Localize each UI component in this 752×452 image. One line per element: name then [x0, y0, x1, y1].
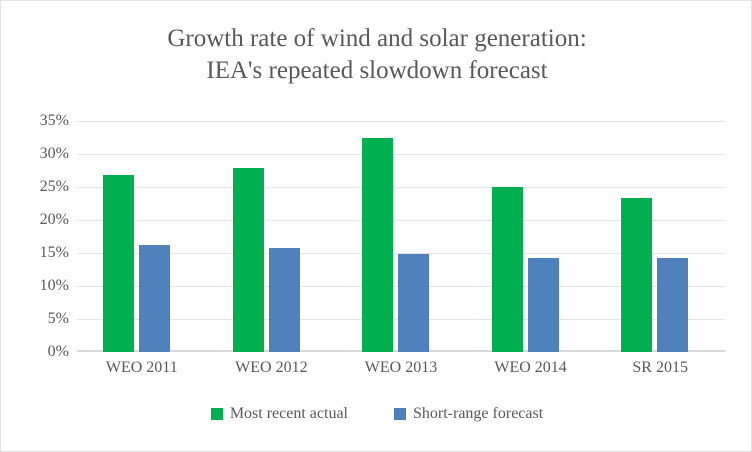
- bar-group: [336, 121, 466, 352]
- plot-area: [77, 121, 725, 352]
- legend-swatch-icon: [394, 408, 406, 420]
- bar-group: [595, 121, 725, 352]
- x-axis-tick-label: WEO 2013: [336, 358, 466, 378]
- x-axis-tick-label: SR 2015: [595, 358, 725, 378]
- y-axis-tick-label: 35%: [11, 113, 69, 129]
- bar-most-recent-actual[interactable]: [621, 198, 652, 352]
- bar-most-recent-actual[interactable]: [362, 138, 393, 352]
- bar-most-recent-actual[interactable]: [233, 168, 264, 352]
- bar-short-range-forecast[interactable]: [528, 258, 559, 352]
- bar-most-recent-actual[interactable]: [492, 187, 523, 352]
- y-axis-tick-label: 10%: [11, 278, 69, 294]
- y-axis-tick-label: 30%: [11, 146, 69, 162]
- chart-legend: Most recent actualShort-range forecast: [1, 405, 752, 423]
- bar-group: [207, 121, 337, 352]
- bar-short-range-forecast[interactable]: [398, 254, 429, 352]
- bar-short-range-forecast[interactable]: [657, 258, 688, 352]
- x-axis-labels: WEO 2011WEO 2012WEO 2013WEO 2014SR 2015: [77, 358, 725, 382]
- y-axis-tick-label: 20%: [11, 212, 69, 228]
- y-axis-tick-label: 5%: [11, 311, 69, 327]
- chart-container: Growth rate of wind and solar generation…: [0, 0, 752, 452]
- legend-swatch-icon: [211, 408, 223, 420]
- bar-short-range-forecast[interactable]: [269, 248, 300, 352]
- legend-label: Most recent actual: [230, 405, 348, 423]
- bar-short-range-forecast[interactable]: [139, 245, 170, 352]
- chart-title: Growth rate of wind and solar generation…: [1, 23, 752, 87]
- legend-label: Short-range forecast: [413, 405, 543, 423]
- bar-group: [77, 121, 207, 352]
- legend-item[interactable]: Most recent actual: [211, 405, 348, 423]
- bar-most-recent-actual[interactable]: [103, 175, 134, 352]
- x-axis-tick-label: WEO 2011: [77, 358, 207, 378]
- y-axis-tick-label: 15%: [11, 245, 69, 261]
- bar-group: [466, 121, 596, 352]
- y-axis-tick-label: 25%: [11, 179, 69, 195]
- x-axis-tick-label: WEO 2012: [207, 358, 337, 378]
- y-axis-labels: 0%5%10%15%20%25%30%35%: [9, 121, 69, 352]
- x-axis-tick-label: WEO 2014: [466, 358, 596, 378]
- y-axis-tick-label: 0%: [11, 344, 69, 360]
- legend-item[interactable]: Short-range forecast: [394, 405, 543, 423]
